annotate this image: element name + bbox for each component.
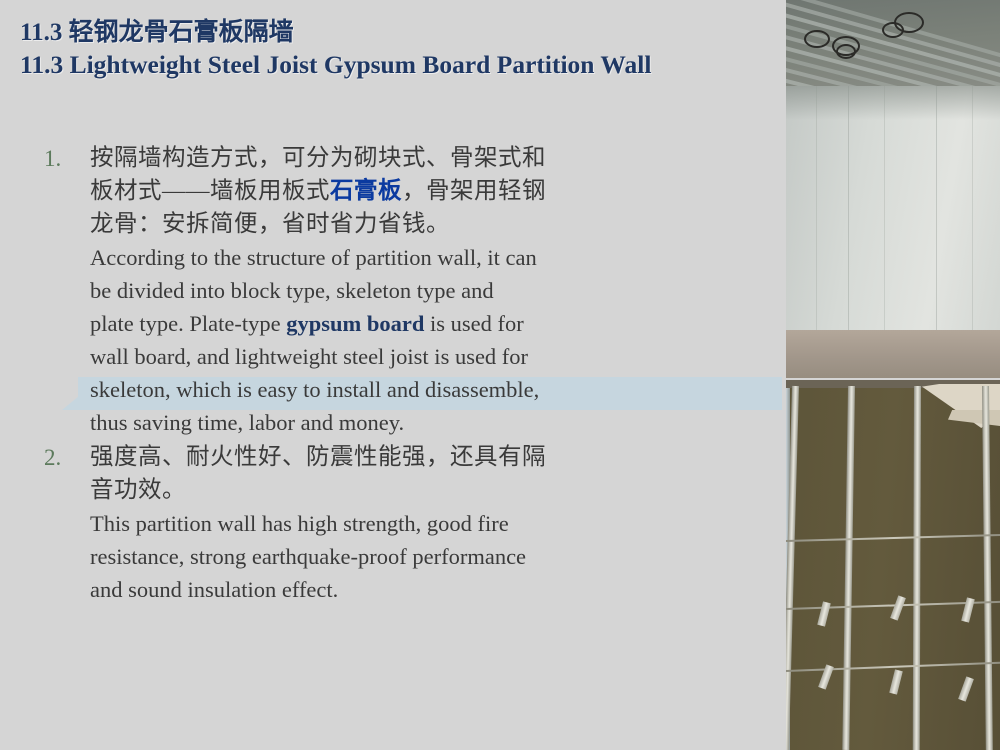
page-title: 11.3 轻钢龙骨石膏板隔墙 11.3 Lightweight Steel Jo… <box>20 18 780 80</box>
text-run: is used for <box>424 311 523 336</box>
chinese-line: 龙骨：安拆简便，省时省力省钱。 <box>90 208 760 241</box>
text-run: 按隔墙构造方式，可分为砌块式、骨架式和 <box>90 145 546 171</box>
english-line: and sound insulation effect. <box>90 573 760 606</box>
title-english: 11.3 Lightweight Steel Joist Gypsum Boar… <box>20 49 780 80</box>
list-item: 1.按隔墙构造方式，可分为砌块式、骨架式和板材式——墙板用板式石膏板，骨架用轻钢… <box>40 142 760 439</box>
text-run: skeleton, which is easy to install and d… <box>90 377 539 402</box>
list-item: 2.强度高、耐火性好、防震性能强，还具有隔音功效。This partition … <box>40 441 760 606</box>
title-chinese: 11.3 轻钢龙骨石膏板隔墙 <box>20 18 780 49</box>
chinese-line: 音功效。 <box>90 474 760 507</box>
text-run: wall board, and lightweight steel joist … <box>90 344 528 369</box>
text-run: and sound insulation effect. <box>90 577 338 602</box>
english-line: skeleton, which is easy to install and d… <box>90 373 760 406</box>
text-run: According to the structure of partition … <box>90 245 537 270</box>
list-item-marker: 2. <box>44 441 61 474</box>
electrical-conduit <box>882 22 904 38</box>
text-run: 龙骨：安拆简便，省时省力省钱。 <box>90 211 450 237</box>
steel-stud <box>913 386 921 750</box>
english-line: thus saving time, labor and money. <box>90 406 760 439</box>
text-run: 音功效。 <box>90 477 186 503</box>
list-item-body: 强度高、耐火性好、防震性能强，还具有隔音功效。This partition wa… <box>90 441 760 606</box>
concrete-floor <box>786 330 1000 378</box>
english-line: wall board, and lightweight steel joist … <box>90 340 760 373</box>
gypsum-wall-surface <box>786 86 1000 348</box>
text-run: plate type. Plate-type <box>90 311 286 336</box>
gypsum-board-seam <box>936 86 937 348</box>
gypsum-board-seam <box>848 86 849 348</box>
electrical-conduit <box>804 30 830 48</box>
steel-joist-framing-photo <box>786 380 1000 750</box>
chinese-line: 按隔墙构造方式，可分为砌块式、骨架式和 <box>90 142 760 175</box>
list-item-body: 按隔墙构造方式，可分为砌块式、骨架式和板材式——墙板用板式石膏板，骨架用轻钢龙骨… <box>90 142 760 439</box>
text-run: resistance, strong earthquake-proof perf… <box>90 544 526 569</box>
english-line: resistance, strong earthquake-proof perf… <box>90 540 760 573</box>
highlighted-term: 石膏板 <box>330 178 402 204</box>
english-line: This partition wall has high strength, g… <box>90 507 760 540</box>
text-run: be divided into block type, skeleton typ… <box>90 278 494 303</box>
english-line: According to the structure of partition … <box>90 241 760 274</box>
highlighted-term: gypsum board <box>286 311 424 336</box>
gypsum-board-wall-photo <box>786 0 1000 378</box>
content-list: 1.按隔墙构造方式，可分为砌块式、骨架式和板材式——墙板用板式石膏板，骨架用轻钢… <box>40 142 760 608</box>
gypsum-board-seam <box>816 86 817 348</box>
english-line: be divided into block type, skeleton typ… <box>90 274 760 307</box>
list-item-marker: 1. <box>44 142 61 175</box>
gypsum-board-seam <box>884 86 885 348</box>
text-run: thus saving time, labor and money. <box>90 410 404 435</box>
chinese-line: 强度高、耐火性好、防震性能强，还具有隔 <box>90 441 760 474</box>
slide: 11.3 轻钢龙骨石膏板隔墙 11.3 Lightweight Steel Jo… <box>0 0 1000 750</box>
text-run: ，骨架用轻钢 <box>402 178 546 204</box>
text-run: This partition wall has high strength, g… <box>90 511 509 536</box>
gypsum-board-seam <box>972 86 973 348</box>
text-run: 板材式——墙板用板式 <box>90 178 330 204</box>
english-line: plate type. Plate-type gypsum board is u… <box>90 307 760 340</box>
chinese-line: 板材式——墙板用板式石膏板，骨架用轻钢 <box>90 175 760 208</box>
text-run: 强度高、耐火性好、防震性能强，还具有隔 <box>90 444 546 470</box>
electrical-conduit <box>836 44 856 59</box>
